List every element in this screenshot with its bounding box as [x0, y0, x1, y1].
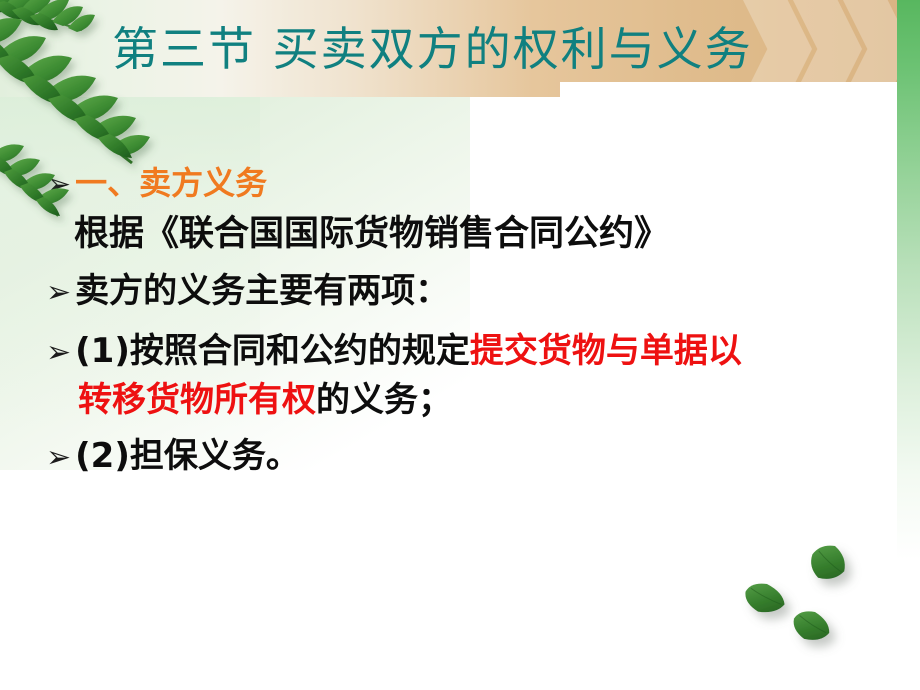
bullet-line-obligation-1: ➢ (1)按照合同和公约的规定 提交货物与单据以 [46, 323, 742, 372]
bullet-text-highlight: 转移货物所有权 [78, 372, 316, 421]
bullet-text-highlight: 提交货物与单据以 [470, 323, 742, 372]
bullet-marker-icon: ➢ [46, 443, 71, 473]
bullet-marker-icon: ➢ [46, 278, 71, 308]
bullet-line-seller-obligations: ➢ 一、卖方义务 [46, 158, 267, 204]
slide-title: 第三节 买卖双方的权利与义务 [112, 26, 753, 72]
bullet-marker-icon: ➢ [46, 170, 71, 200]
slide-body: ➢ 一、卖方义务 根据《联合国国际货物销售合同公约》 ➢ 卖方的义务主要有两项：… [0, 110, 920, 690]
bullet-text: 根据《联合国国际货物销售合同公约》 [74, 205, 669, 256]
bullet-marker-icon: ➢ [46, 338, 71, 368]
slide-canvas: 第三节 买卖双方的权利与义务 ➢ 一、卖方义务 根据《联合国国际货物销售合同公约… [0, 0, 920, 690]
bullet-text: 卖方的义务主要有两项： [75, 263, 449, 312]
header-white-cut [560, 82, 897, 108]
bullet-line-obligation-1-cont: 转移货物所有权 的义务； [78, 372, 452, 421]
bullet-text-black: 的义务； [316, 372, 452, 421]
bullet-line-obligation-2: ➢ (2)担保义务。 [46, 428, 300, 477]
bullet-line-convention-reference: 根据《联合国国际货物销售合同公约》 [74, 205, 669, 256]
bullet-text: (2)担保义务。 [75, 428, 300, 477]
bullet-line-two-obligations: ➢ 卖方的义务主要有两项： [46, 263, 449, 312]
bullet-text: 一、卖方义务 [75, 158, 267, 204]
bullet-text-black: (1)按照合同和公约的规定 [75, 323, 470, 372]
